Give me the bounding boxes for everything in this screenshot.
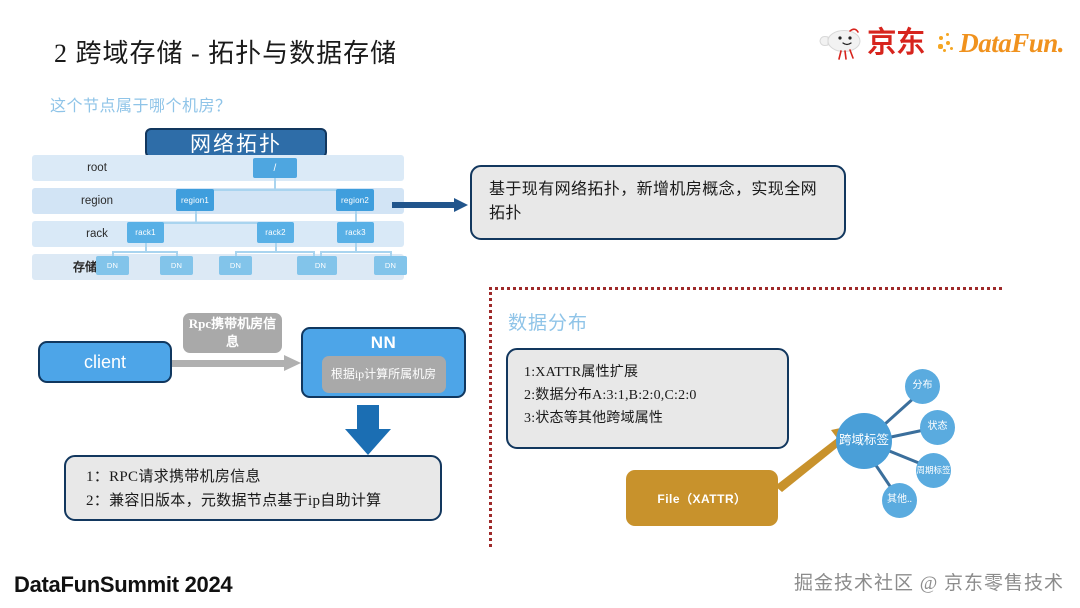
cluster-node-other[interactable]: 其他.. [882,483,917,518]
data-distribution-box: 1:XATTR属性扩展 2:数据分布A:3:1,B:2:0,C:2:0 3:状态… [506,348,789,449]
footer-watermark: 掘金技术社区 @ 京东零售技术 [794,568,1064,595]
client-node[interactable]: client [38,341,172,383]
topology-banner: 网络拓扑 [145,128,327,158]
topology-node-rack1[interactable]: rack1 [127,222,164,243]
file-xattr-node[interactable]: File（XATTR） [626,470,778,526]
datafun-logo: DataFun. [937,30,1064,57]
network-topology-diagram: root region rack 存储节点 / region1 region2 … [32,155,404,280]
datafun-dots-icon [937,32,957,54]
jd-logo: 京东 [819,26,925,60]
topology-connector [112,251,178,253]
nn-to-note-arrow-icon [345,405,391,455]
topology-node-dn[interactable]: DN [374,256,407,275]
namenode-title: NN [303,333,464,353]
topology-node-root[interactable]: / [253,158,297,178]
topology-connector [195,189,357,191]
topology-node-region1[interactable]: region1 [176,189,214,211]
jd-logo-text: 京东 [867,29,925,58]
cluster-node-lifecycle[interactable]: 周期标签 [916,453,951,488]
topology-connector [235,251,315,253]
namenode-node[interactable]: NN 根据ip计算所属机房 [301,327,466,398]
logo-group: 京东 DataFun. [819,26,1064,60]
topology-connector [145,243,147,251]
topology-node-dn[interactable]: DN [160,256,193,275]
topology-connector [355,243,357,251]
topology-callout-box: 基于现有网络拓扑，新增机房概念，实现全网拓扑 [470,165,846,240]
topology-node-rack3[interactable]: rack3 [337,222,374,243]
rpc-label: Rpc携带机房信息 [183,313,282,353]
topology-node-dn[interactable]: DN [304,256,337,275]
rpc-note-line-1: 1：RPC请求携带机房信息 [86,465,420,489]
topology-node-dn[interactable]: DN [219,256,252,275]
topology-label-root: root [32,155,162,181]
datafun-logo-text: DataFun. [959,30,1064,57]
client-to-nn-arrow-icon [172,355,302,371]
topology-node-dn[interactable]: DN [96,256,129,275]
jd-dog-mascot-icon [819,26,863,60]
data-distribution-title: 数据分布 [508,308,588,335]
topology-node-rack2[interactable]: rack2 [257,222,294,243]
topology-connector [275,243,277,251]
topology-connector [195,211,197,222]
rpc-note-box: 1：RPC请求携带机房信息 2：兼容旧版本，元数据节点基于ip自助计算 [64,455,442,521]
cluster-node-center[interactable]: 跨域标签 [836,413,892,469]
slide-root: 2 跨域存储 - 拓扑与数据存储 这个节点属于哪个机房？ 京东 [0,0,1080,608]
topology-to-callout-arrow-icon [392,198,470,212]
namenode-inner-label: 根据ip计算所属机房 [322,356,446,393]
rpc-note-line-2: 2：兼容旧版本，元数据节点基于ip自助计算 [86,489,420,513]
data-distribution-line-3: 3:状态等其他跨域属性 [524,407,771,430]
data-distribution-line-1: 1:XATTR属性扩展 [524,361,771,384]
cluster-node-distribution[interactable]: 分布 [905,369,940,404]
topology-label-region: region [32,188,162,214]
footer-brand: DataFunSummit 2024 [14,572,232,598]
cluster-node-status[interactable]: 状态 [920,410,955,445]
page-title: 2 跨域存储 - 拓扑与数据存储 [54,33,397,70]
page-subtitle: 这个节点属于哪个机房？ [50,92,232,116]
cross-domain-tag-cluster: 跨域标签 分布 状态 周期标签 其他.. [830,365,970,515]
topology-node-region2[interactable]: region2 [336,189,374,211]
topology-connector [320,251,392,253]
data-distribution-line-2: 2:数据分布A:3:1,B:2:0,C:2:0 [524,384,771,407]
